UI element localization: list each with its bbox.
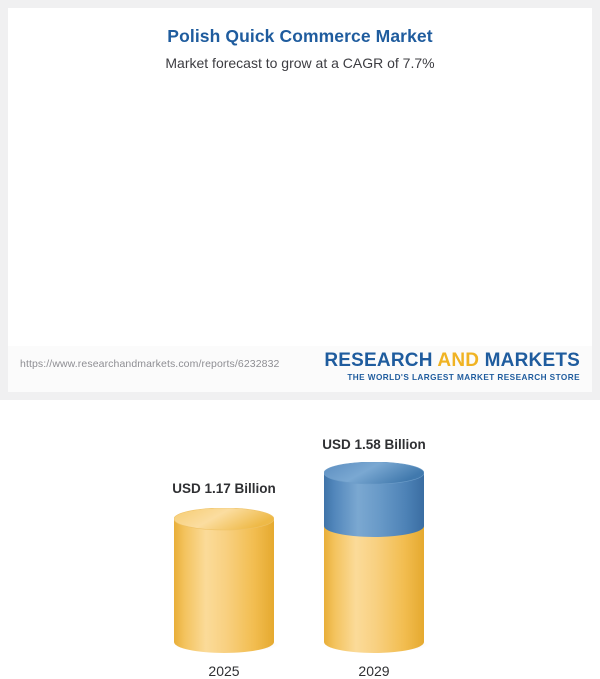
plot-area: USD 1.17 Billion	[8, 8, 592, 348]
footer: https://www.researchandmarkets.com/repor…	[8, 346, 592, 392]
logo-wordmark: RESEARCH AND MARKETS	[324, 351, 580, 371]
bar-value-label: USD 1.58 Billion	[299, 437, 449, 452]
bar-category-label: 2025	[149, 663, 299, 679]
research-and-markets-logo[interactable]: RESEARCH AND MARKETS THE WORLD'S LARGEST…	[324, 351, 580, 383]
logo-tagline: THE WORLD'S LARGEST MARKET RESEARCH STOR…	[324, 372, 580, 383]
report-url[interactable]: https://www.researchandmarkets.com/repor…	[20, 358, 279, 370]
chart-card: Polish Quick Commerce Market Market fore…	[8, 8, 592, 392]
cylinder-2025[interactable]	[174, 508, 274, 663]
logo-word-markets: MARKETS	[485, 350, 580, 371]
cylinder-2029[interactable]	[324, 462, 424, 663]
cylinder-shape	[324, 462, 424, 658]
bar-category-label: 2029	[299, 663, 449, 679]
chart-page: Polish Quick Commerce Market Market fore…	[0, 0, 600, 400]
logo-word-and: AND	[437, 350, 479, 371]
cylinder-shape	[174, 508, 274, 658]
bar-value-label: USD 1.17 Billion	[149, 481, 299, 496]
logo-word-research: RESEARCH	[324, 350, 432, 371]
